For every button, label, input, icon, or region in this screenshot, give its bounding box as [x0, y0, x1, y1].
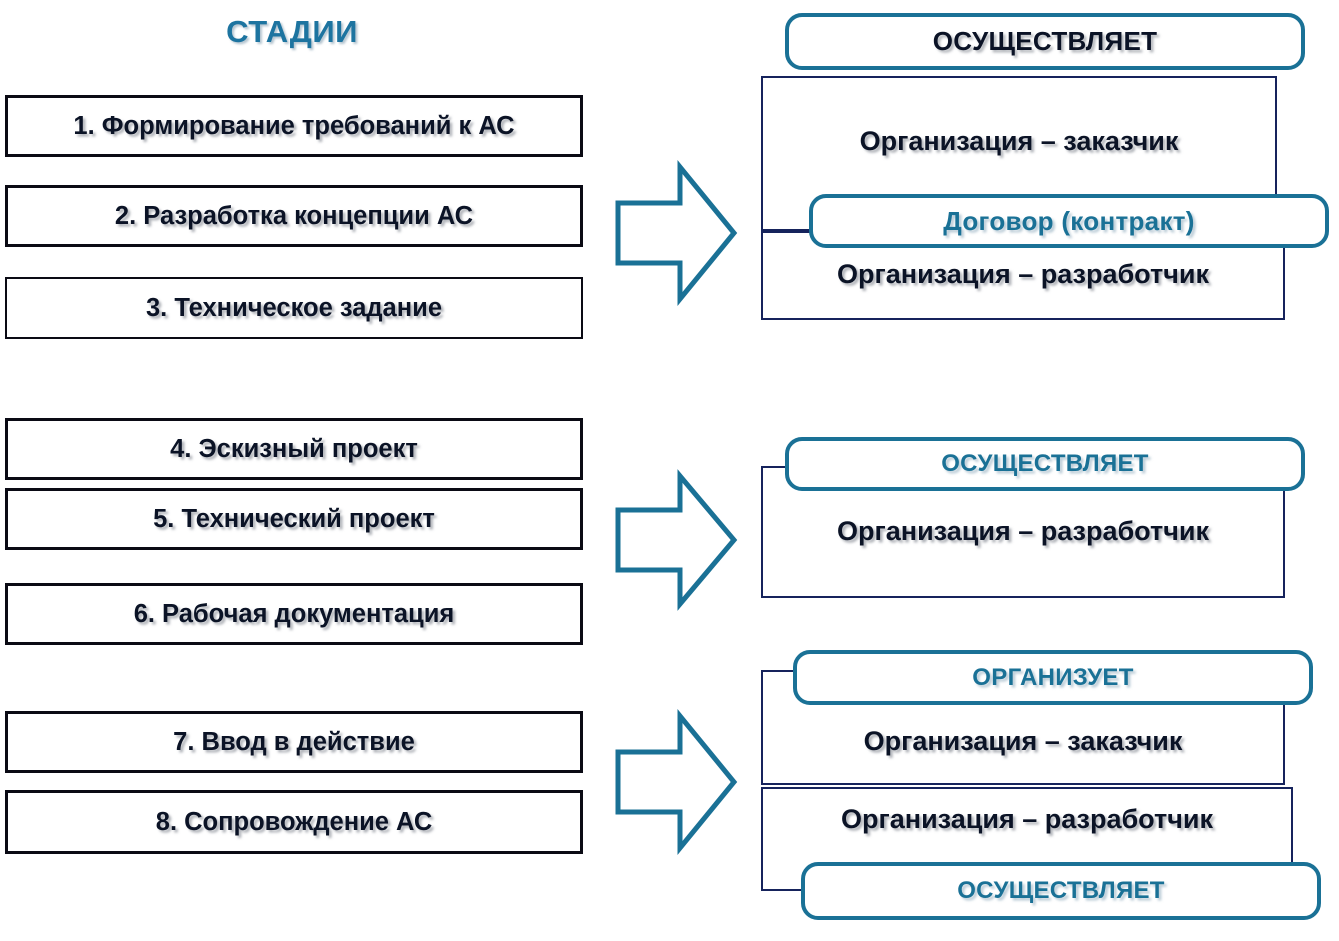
pill-performs-3[interactable]: ОСУЩЕСТВЛЯЕТ: [801, 862, 1321, 920]
pill-label-organizes: ОРГАНИЗУЕТ: [972, 664, 1133, 692]
stage-box-4[interactable]: 4. Эскизный проект: [5, 418, 583, 480]
arrow-right-icon-3: [615, 712, 737, 852]
actor-label-developer-1: Организация – разработчик: [761, 259, 1285, 290]
actor-label-customer-1: Организация – заказчик: [761, 126, 1277, 157]
pill-label-performs-1: ОСУЩЕСТВЛЯЕТ: [933, 26, 1158, 57]
stage-label-7: 7. Ввод в действие: [173, 728, 415, 757]
pill-performs-2[interactable]: ОСУЩЕСТВЛЯЕТ: [785, 437, 1305, 491]
actor-label-developer-3: Организация – разработчик: [761, 804, 1293, 835]
diagram-canvas: СТАДИИ 1. Формирование требований к АС 2…: [0, 0, 1339, 941]
pill-label-performs-2: ОСУЩЕСТВЛЯЕТ: [941, 450, 1149, 478]
stage-label-4: 4. Эскизный проект: [170, 435, 418, 464]
stage-box-6[interactable]: 6. Рабочая документация: [5, 583, 583, 645]
actors-group-1: Организация – заказчик Организация – раз…: [0, 0, 1339, 330]
stage-label-6: 6. Рабочая документация: [134, 600, 455, 629]
pill-label-performs-3: ОСУЩЕСТВЛЯЕТ: [957, 877, 1165, 905]
stage-label-8: 8. Сопровождение АС: [156, 808, 432, 837]
actor-label-customer-3: Организация – заказчик: [761, 726, 1285, 757]
arrow-right-icon-2: [615, 472, 737, 608]
stage-box-5[interactable]: 5. Технический проект: [5, 488, 583, 550]
stage-box-7[interactable]: 7. Ввод в действие: [5, 711, 583, 773]
pill-performs-1[interactable]: ОСУЩЕСТВЛЯЕТ: [785, 13, 1305, 70]
actor-label-developer-2: Организация – разработчик: [761, 516, 1285, 547]
pill-organizes[interactable]: ОРГАНИЗУЕТ: [793, 650, 1313, 705]
pill-label-contract: Договор (контракт): [943, 206, 1195, 237]
pill-contract[interactable]: Договор (контракт): [809, 194, 1329, 248]
stage-label-5: 5. Технический проект: [153, 505, 435, 534]
stage-box-8[interactable]: 8. Сопровождение АС: [5, 790, 583, 854]
